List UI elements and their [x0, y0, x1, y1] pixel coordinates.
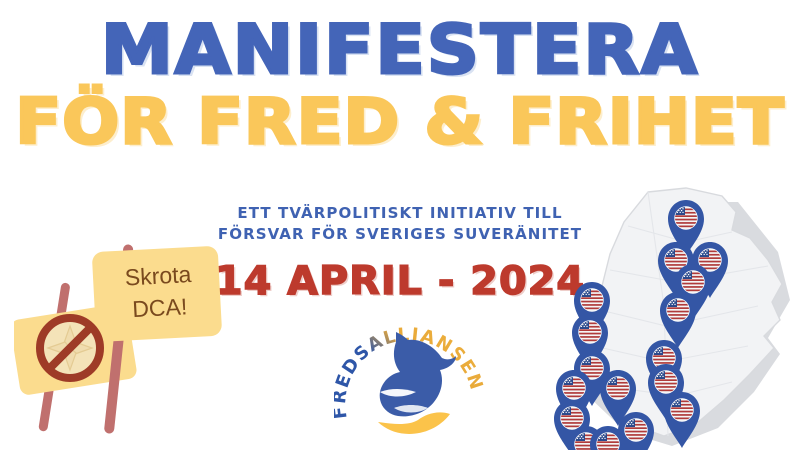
sign-text-line-1: Skrota	[124, 261, 192, 290]
headline-block: MANIFESTERA FÖR FRED & FRIHET	[0, 18, 800, 153]
hand-swoosh-icon	[378, 412, 450, 434]
sign-text-line-2: DCA!	[132, 293, 188, 322]
map-pin[interactable]	[618, 412, 654, 450]
poster-canvas: MANIFESTERA FÖR FRED & FRIHET ETT TVÄRPO…	[0, 0, 800, 450]
headline-line-1: MANIFESTERA	[0, 18, 800, 85]
fredsalliansen-logo[interactable]: FREDSALLIANSEN.SE	[334, 318, 486, 446]
headline-line-2: FÖR FRED & FRIHET	[0, 91, 800, 153]
nato-star-prohibited-icon	[40, 318, 100, 378]
protest-signs-illustration: Skrota DCA!	[14, 236, 244, 442]
sweden-map	[536, 186, 800, 450]
